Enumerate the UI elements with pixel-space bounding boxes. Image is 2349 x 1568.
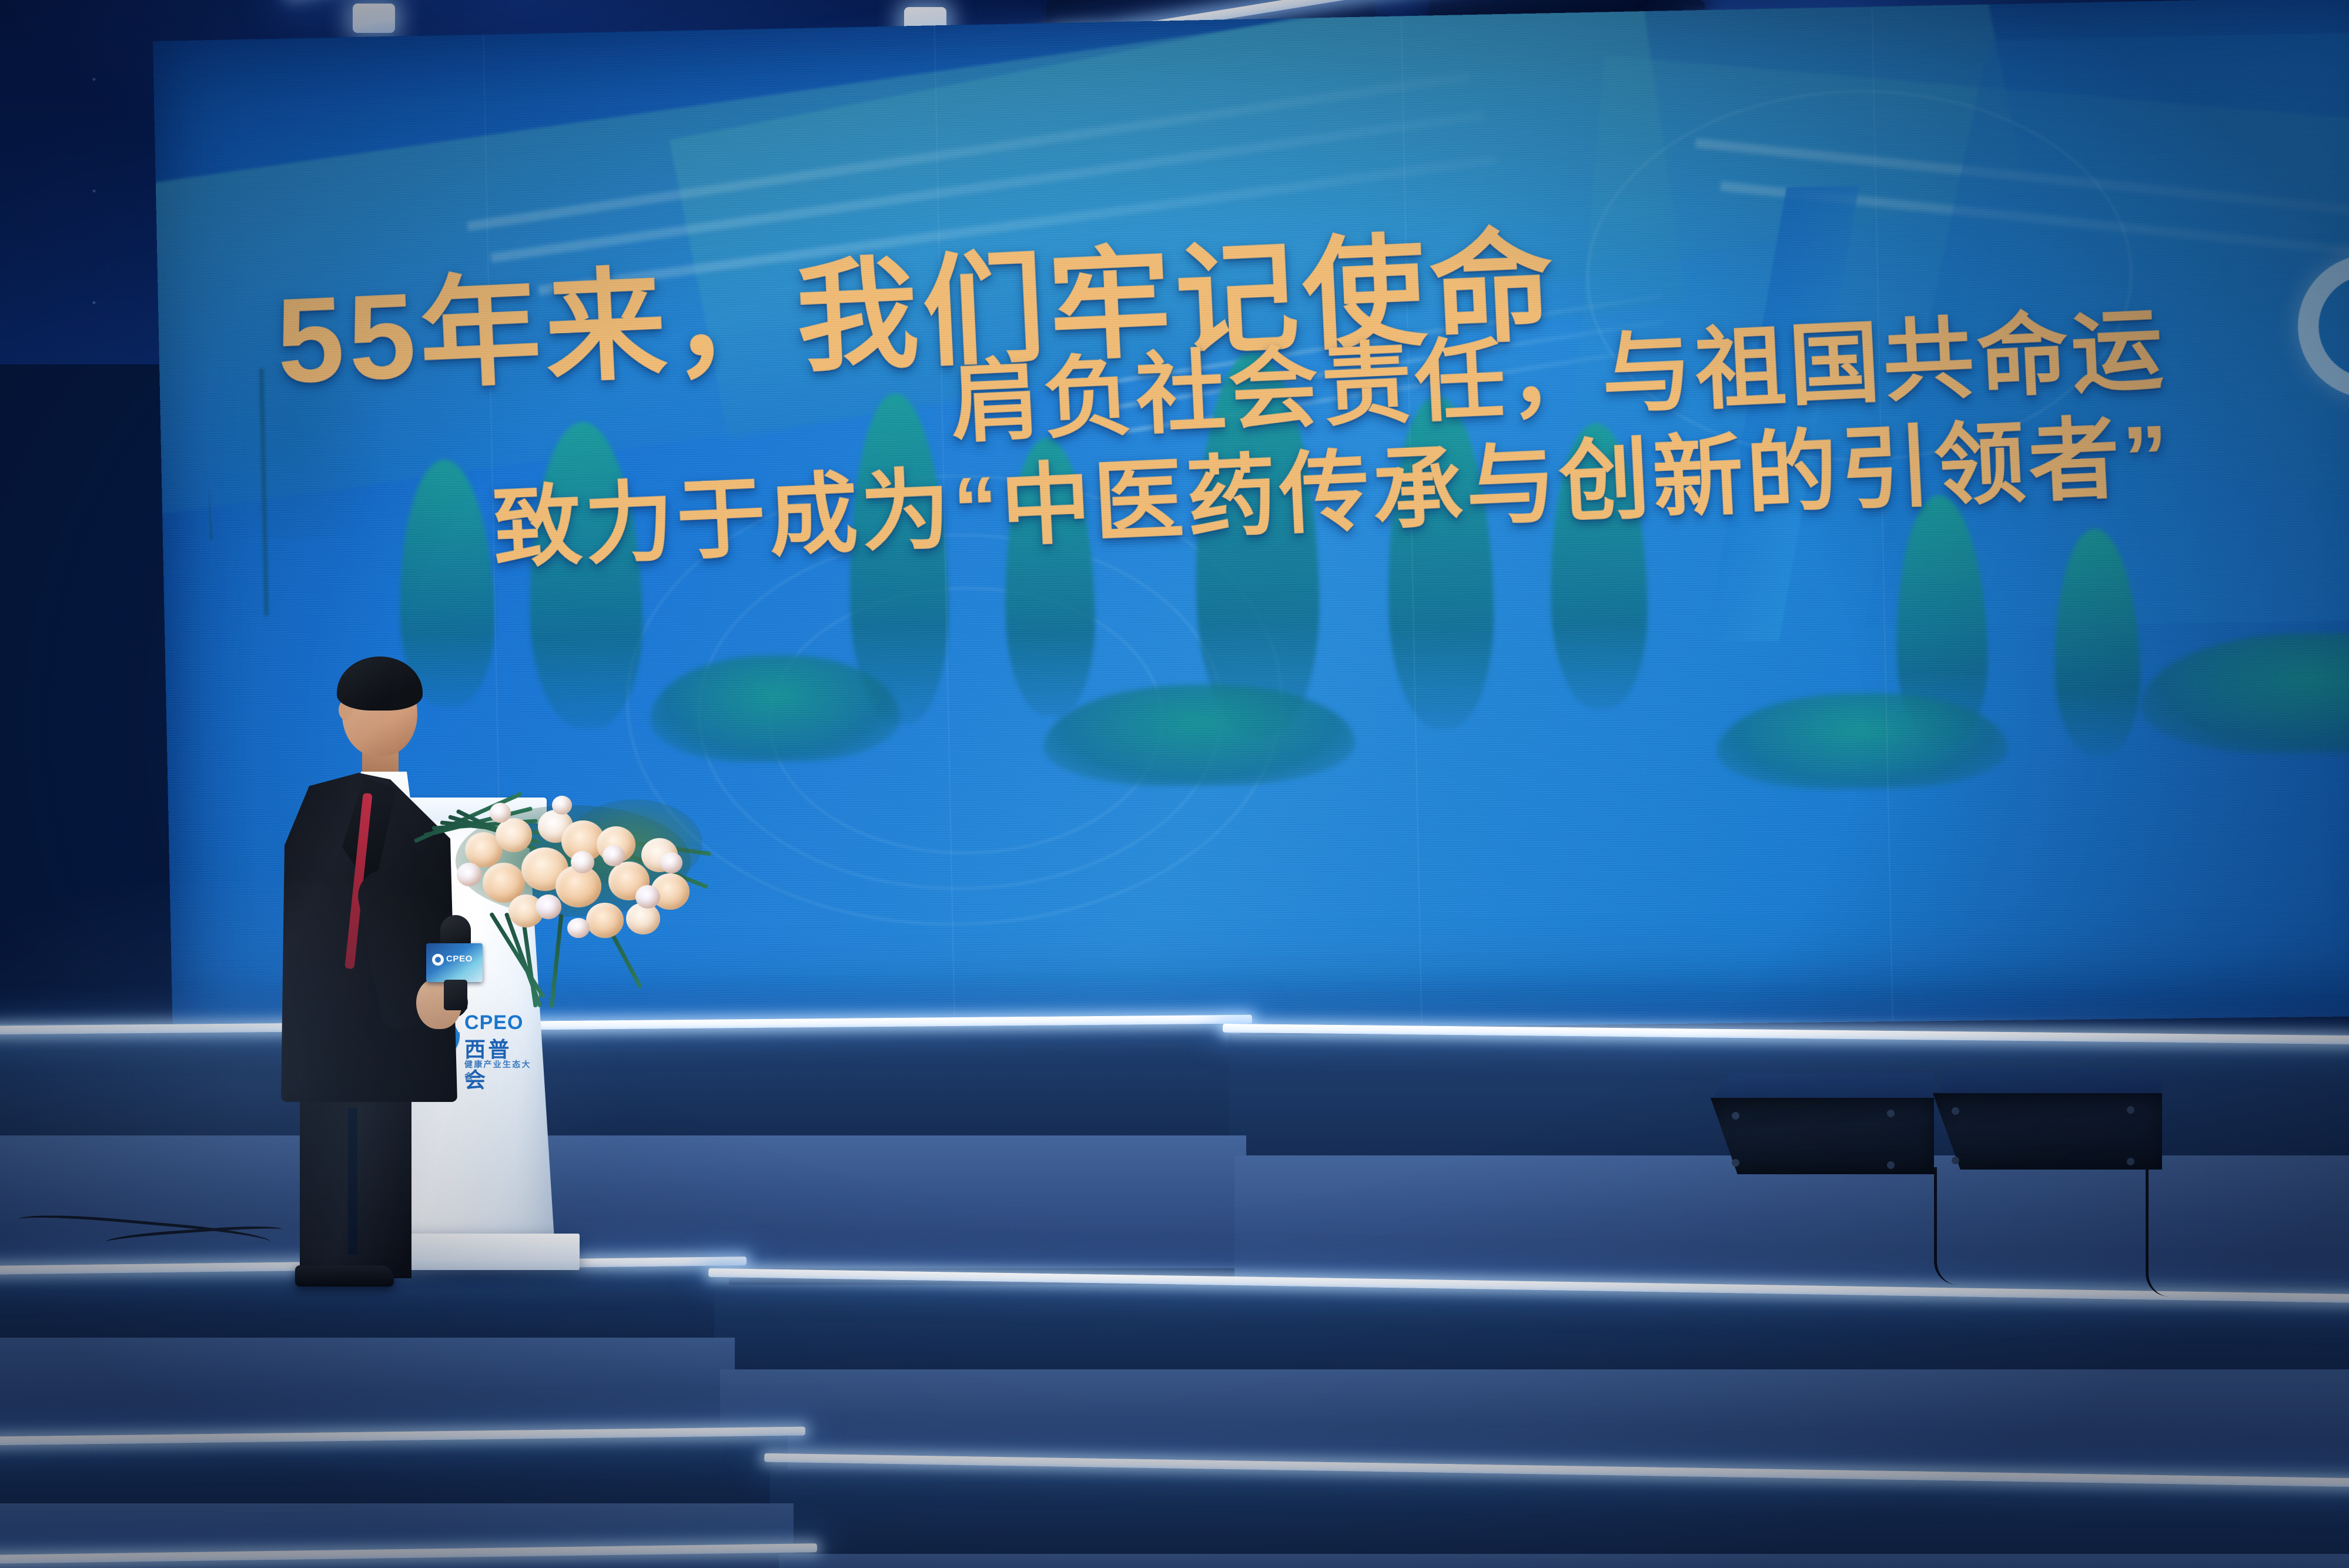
speaker-shoe	[295, 1265, 394, 1286]
stage-upper-riser	[0, 1024, 1240, 1135]
monitor-top-panel	[1711, 1073, 1934, 1100]
monitor-screw	[2127, 1106, 2134, 1114]
monitor-screw	[1732, 1159, 1739, 1167]
monitor-speaker-cable	[2146, 1161, 2210, 1296]
speaker-leg-gap	[348, 1108, 357, 1255]
lisianthus-bloom	[536, 894, 561, 919]
wall-shrub	[2140, 631, 2349, 755]
stage-scene: 55年来，我们牢记使命 肩负社会责任，与祖国共命运 致力于成为“中医药传承与创新…	[0, 0, 2349, 1568]
rose-bloom	[496, 818, 532, 852]
speaker-person: CPEO	[276, 661, 500, 1296]
monitor-screw	[1887, 1161, 1895, 1169]
wall-tree	[1547, 423, 1649, 710]
monitor-speaker-cable	[1934, 1167, 1981, 1285]
microphone-handle	[444, 980, 467, 1010]
lisianthus-bloom	[490, 803, 511, 823]
rose-bloom	[586, 903, 624, 938]
ceiling-panel-light	[353, 4, 395, 33]
lisianthus-bloom	[571, 851, 594, 873]
wall-bare-tree	[205, 284, 386, 540]
stage-monitor-speaker	[1933, 1068, 2162, 1180]
lisianthus-bloom	[457, 863, 481, 886]
monitor-screw	[1952, 1157, 1959, 1164]
monitor-screw	[2127, 1158, 2134, 1165]
stage-step-riser	[0, 1435, 788, 1506]
monitor-top-panel	[1933, 1068, 2162, 1095]
lisianthus-bloom	[635, 885, 660, 909]
lisianthus-bloom	[552, 796, 572, 815]
lisianthus-bloom	[603, 845, 625, 866]
lisianthus-bloom	[660, 852, 682, 873]
floral-arrangement	[420, 764, 697, 976]
lisianthus-bloom	[567, 918, 590, 938]
stage-monitor-speaker	[1711, 1073, 1934, 1179]
wall-tree	[1192, 350, 1322, 738]
monitor-screw	[1952, 1107, 1959, 1115]
stage-step-tread	[779, 1554, 2349, 1568]
wall-tree	[1384, 395, 1497, 729]
stage-step-tread	[0, 1338, 735, 1438]
monitor-front-grille	[1711, 1098, 1934, 1174]
monitor-screw	[1732, 1112, 1739, 1120]
monitor-screw	[1887, 1110, 1895, 1117]
wall-tree	[526, 421, 645, 729]
speaker-hair	[337, 656, 423, 711]
